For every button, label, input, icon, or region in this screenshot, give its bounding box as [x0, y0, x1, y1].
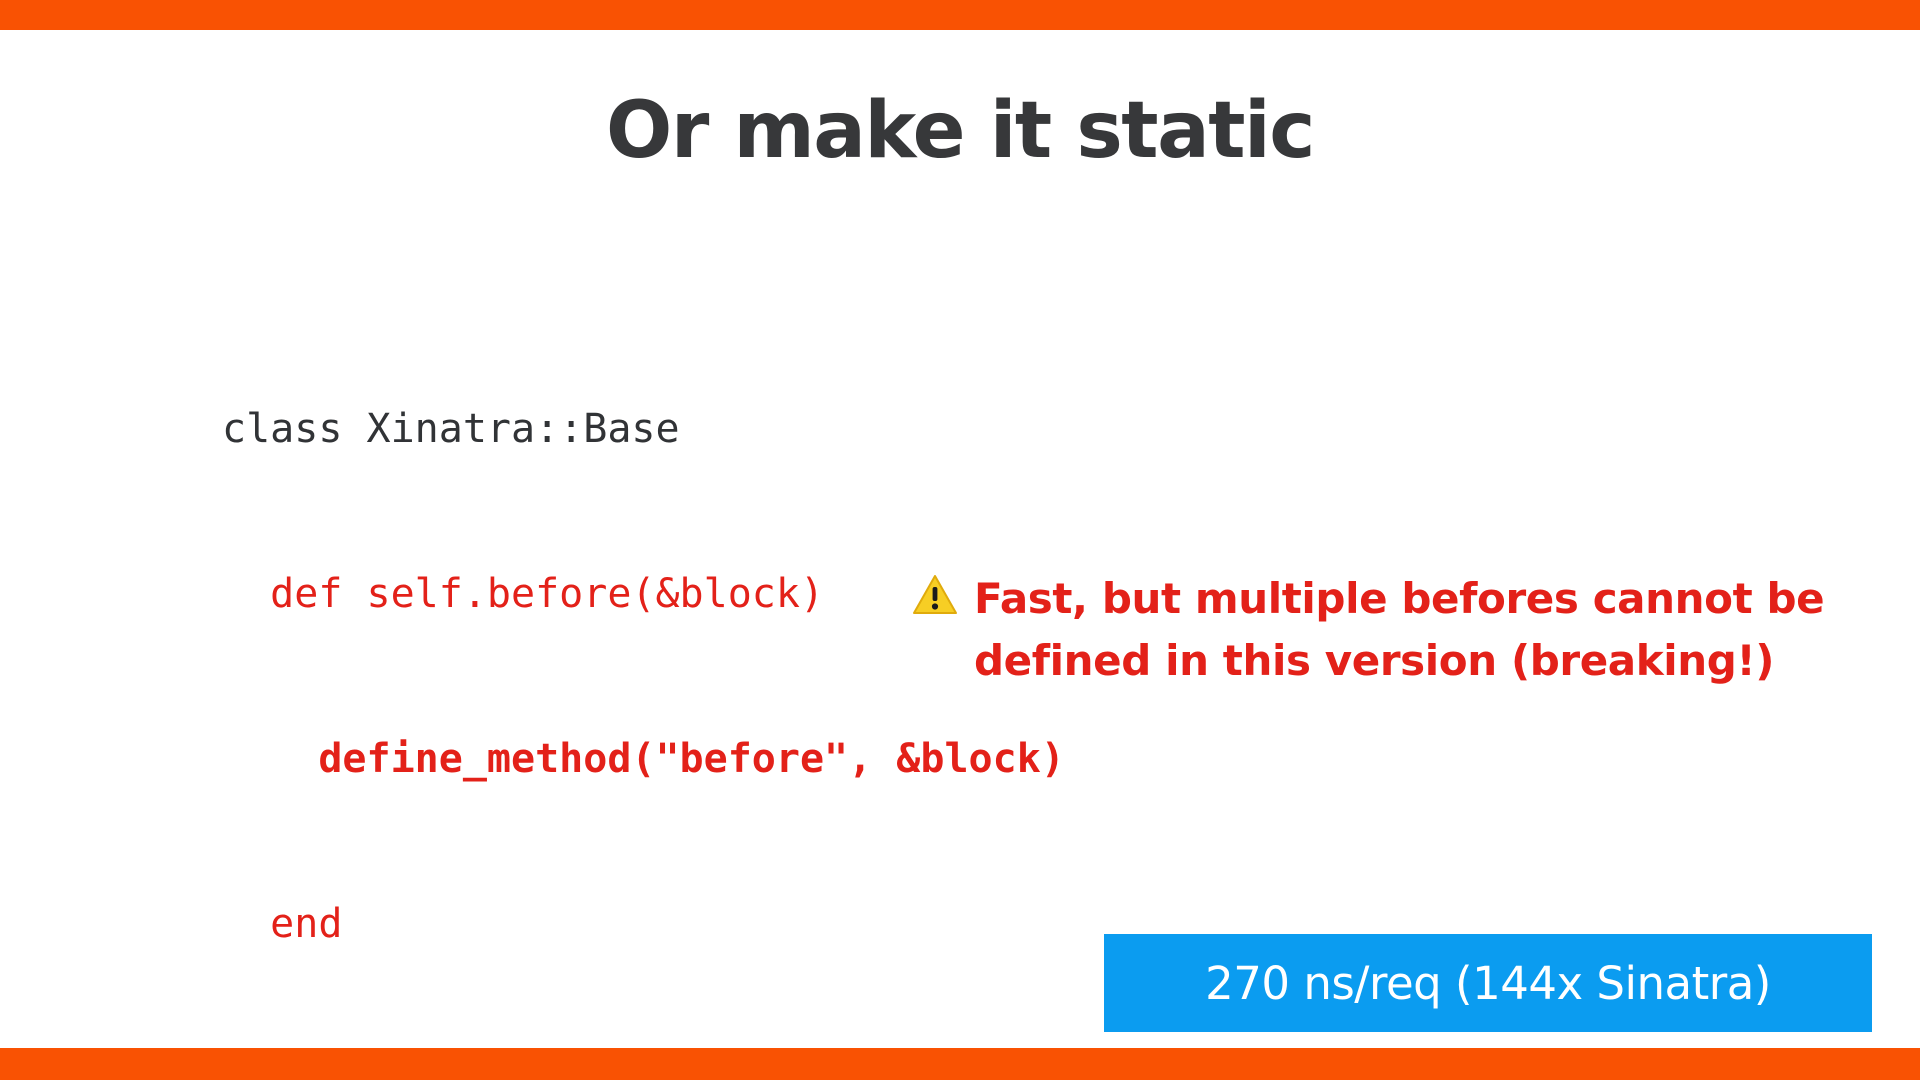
- warning-triangle-icon: [912, 574, 958, 621]
- performance-badge-label: 270 ns/req (144x Sinatra): [1205, 957, 1771, 1010]
- warning-line-1: Fast, but multiple befores cannot be: [974, 568, 1824, 630]
- warning-callout: Fast, but multiple befores cannot be def…: [912, 568, 1892, 692]
- warning-callout-text: Fast, but multiple befores cannot be def…: [974, 568, 1824, 692]
- page-title: Or make it static: [0, 86, 1920, 176]
- performance-badge: 270 ns/req (144x Sinatra): [1104, 934, 1872, 1032]
- top-accent-bar: [0, 0, 1920, 30]
- warning-line-2: defined in this version (breaking!): [974, 630, 1824, 692]
- slide: Or make it static class Xinatra::Base de…: [0, 0, 1920, 1080]
- code-line: [222, 1062, 1065, 1080]
- code-line: end: [222, 897, 1065, 952]
- code-line: class Xinatra::Base: [222, 402, 1065, 457]
- code-line: define_method("before", &block): [222, 732, 1065, 787]
